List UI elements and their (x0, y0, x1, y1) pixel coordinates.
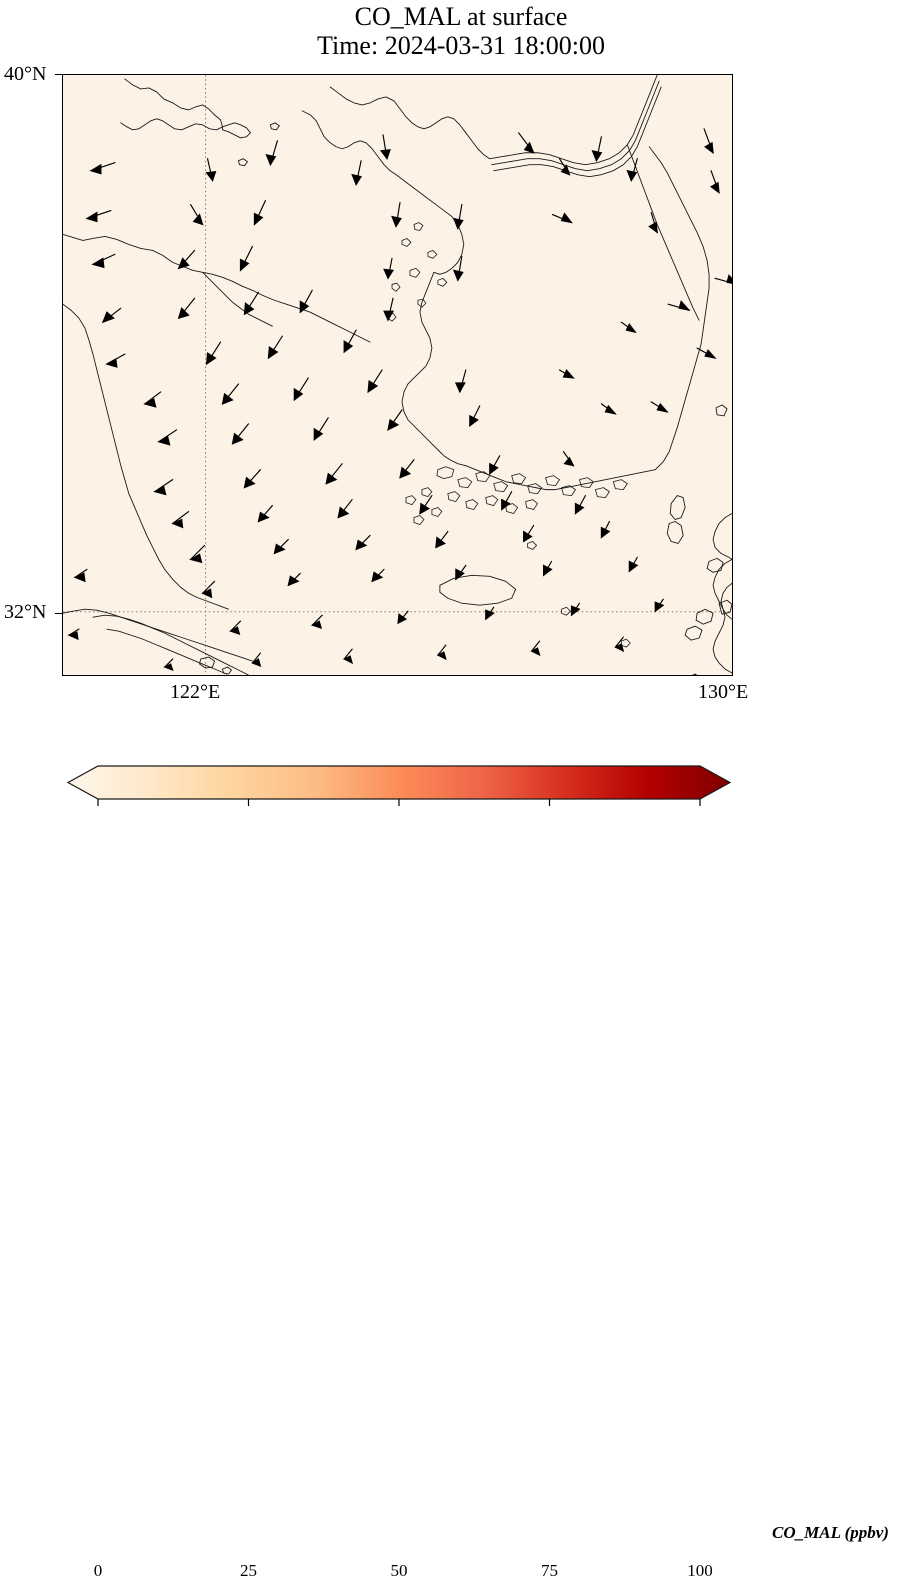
wind-arrow (388, 410, 402, 430)
coastline-china-east (63, 304, 229, 609)
coastline-japan-honshu-sw (713, 514, 732, 560)
wind-arrow (179, 250, 195, 268)
wind-arrow (392, 203, 401, 227)
y-axis-tick-mark-32N (55, 613, 62, 614)
wind-arrow (288, 573, 300, 585)
wind-arrow (191, 205, 203, 225)
wind-arrow (615, 637, 623, 651)
colorbar-tick-label-75: 75 (541, 1561, 558, 1581)
wind-arrow (575, 496, 585, 514)
wind-arrow (655, 599, 663, 611)
wind-arrow (368, 370, 382, 392)
island-east-1 (716, 405, 727, 416)
coastline-shandong (63, 234, 370, 342)
island-iki (707, 558, 723, 572)
wind-arrow (352, 161, 361, 185)
islands-korea-west (388, 223, 447, 322)
wind-arrow (490, 456, 500, 474)
wind-arrow (274, 539, 288, 553)
islands-misc (528, 541, 673, 675)
wind-vectors (69, 129, 732, 670)
islands-korea-south (406, 467, 627, 525)
coastline-kyushu (713, 559, 732, 673)
wind-arrow (75, 569, 87, 581)
wind-arrow (244, 292, 258, 314)
wind-arrow (159, 430, 177, 445)
wind-arrow (338, 500, 352, 518)
wind-arrow (629, 557, 637, 571)
wind-arrow (223, 384, 239, 404)
wind-arrow (326, 464, 342, 484)
wind-arrow (173, 512, 189, 528)
wind-arrow (191, 545, 205, 562)
island-zhoushan-small (223, 667, 232, 674)
y-axis-tick-mark-40N (55, 74, 62, 75)
wind-arrow (651, 402, 667, 412)
wind-arrow (145, 392, 161, 407)
wind-arrow (544, 561, 552, 575)
coastline-korea-gyeonggi (396, 175, 464, 275)
wind-arrow (697, 348, 715, 358)
wind-arrow (103, 308, 121, 322)
wind-arrow (438, 645, 446, 659)
gridlines (63, 75, 732, 675)
island-tsushima-south (667, 522, 683, 544)
colorbar-tick-label-50: 50 (391, 1561, 408, 1581)
wind-arrow (230, 621, 240, 634)
x-axis-tick-label-122E: 122°E (170, 681, 220, 704)
coastline-shandong-tip (223, 123, 251, 138)
wind-arrow (470, 406, 480, 426)
wind-arrow (258, 506, 272, 522)
wind-arrow (711, 171, 719, 193)
wind-arrow (560, 370, 574, 378)
wind-arrow (165, 659, 173, 670)
wind-arrow (571, 603, 579, 615)
island-east-2 (689, 674, 701, 675)
wind-arrow (240, 246, 252, 270)
wind-arrow (553, 214, 572, 223)
wind-arrow (252, 653, 260, 666)
island-jeju (440, 575, 516, 605)
river-yalu-tumen-1 (490, 75, 657, 165)
wind-arrow (400, 460, 414, 478)
title-line-time: Time: 2024-03-31 18:00:00 (0, 31, 922, 60)
coastline-yangtze-mouth (63, 609, 252, 661)
wind-arrow (91, 163, 115, 174)
colorbar[interactable]: 0 25 50 75 100 CO_MAL (ppbv) (0, 756, 922, 836)
wind-arrow (621, 322, 635, 332)
title-line-variable: CO_MAL at surface (0, 2, 922, 31)
wind-arrow (601, 522, 609, 538)
island-goto-2 (685, 626, 702, 640)
wind-arrow (704, 129, 713, 153)
coastline-shandong-bay (203, 272, 273, 326)
river-yalu-tumen-2 (492, 81, 659, 171)
wind-arrow (207, 342, 221, 364)
wind-arrow (312, 615, 322, 628)
y-axis-tick-label-40N: 40°N (4, 63, 46, 86)
wind-arrow (244, 470, 260, 488)
wind-arrow (268, 336, 282, 358)
wind-arrow (266, 141, 277, 165)
colorbar-ticks (98, 799, 700, 806)
map-canvas (63, 75, 732, 675)
wind-arrow (454, 256, 463, 280)
wind-arrow (314, 418, 328, 440)
colorbar-axis-label: CO_MAL (ppbv) (772, 1523, 889, 1543)
wind-arrow (384, 258, 393, 278)
coastline-nk-west (330, 87, 490, 159)
wind-arrow (344, 649, 352, 663)
wind-arrow (356, 535, 370, 549)
wind-arrow (87, 211, 111, 222)
wind-arrow (207, 159, 216, 181)
wind-arrow (532, 641, 540, 655)
wind-arrow (107, 354, 125, 367)
wind-arrow (384, 298, 393, 320)
wind-arrow (179, 298, 195, 318)
wind-arrow (627, 159, 637, 181)
map-plot-area[interactable] (62, 74, 733, 676)
wind-arrow (592, 137, 601, 161)
coastline-nk-west-2 (302, 111, 396, 175)
wind-arrow (564, 452, 574, 466)
river-nk-east-border (627, 145, 699, 320)
coastline-liaodong (121, 79, 223, 130)
coastlines (63, 75, 732, 675)
wind-arrow (519, 133, 534, 153)
wind-arrow (524, 525, 534, 541)
colorbar-gradient-bar (68, 766, 730, 799)
colorbar-canvas (0, 756, 922, 836)
island-bohai-1 (270, 123, 279, 130)
wind-arrow (344, 330, 356, 352)
island-bohai-2 (238, 159, 247, 166)
wind-arrow (486, 607, 494, 619)
wind-arrow (668, 301, 689, 310)
wind-arrow (155, 480, 173, 495)
coastline-korea-west (402, 272, 466, 465)
wind-arrow (381, 135, 390, 159)
wind-arrow (420, 496, 432, 514)
wind-arrow (454, 205, 463, 229)
x-axis-tick-label-130E: 130°E (698, 681, 748, 704)
wind-arrow (294, 378, 308, 400)
wind-arrow (372, 569, 384, 581)
wind-arrow (456, 370, 466, 392)
wind-arrow (715, 275, 732, 284)
colorbar-tick-label-0: 0 (94, 1561, 103, 1581)
wind-arrow (93, 254, 115, 267)
wind-arrow (69, 629, 79, 639)
figure-title: CO_MAL at surface Time: 2024-03-31 18:00… (0, 2, 922, 60)
colorbar-tick-label-25: 25 (240, 1561, 257, 1581)
wind-arrow (436, 531, 448, 547)
wind-arrow (601, 404, 615, 414)
y-axis-tick-label-32N: 32°N (4, 601, 46, 624)
wind-arrow (300, 290, 312, 312)
wind-arrow (502, 492, 512, 510)
wind-arrow (254, 201, 265, 225)
wind-arrow (398, 611, 408, 623)
wind-arrow (232, 424, 248, 444)
wind-arrow (203, 581, 215, 597)
colorbar-tick-label-100: 100 (687, 1561, 713, 1581)
wind-arrow (649, 213, 657, 233)
island-tsushima-north (670, 496, 685, 520)
